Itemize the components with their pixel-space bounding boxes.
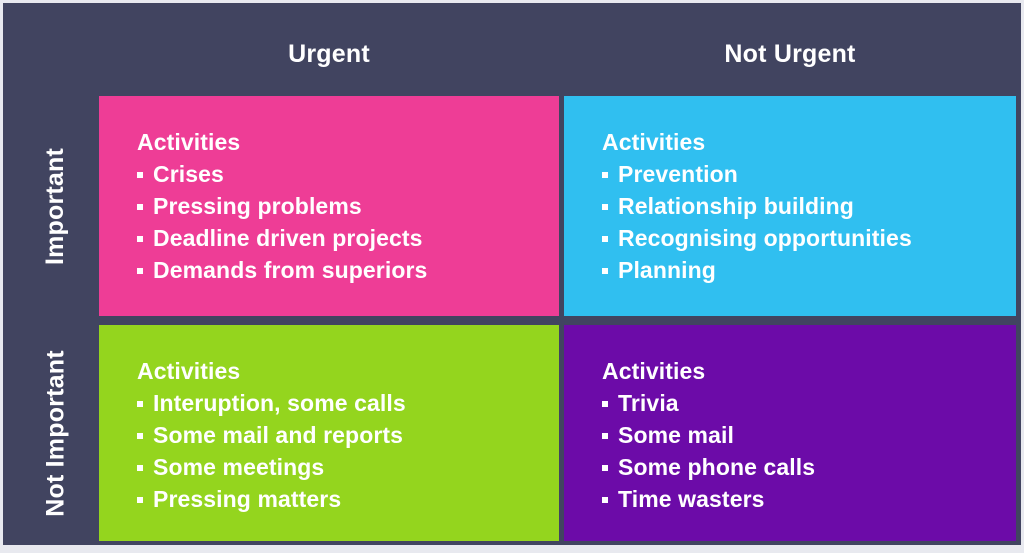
list-item: Time wasters <box>602 483 990 515</box>
list-item: Some mail <box>602 419 990 451</box>
list-item-label: Relationship building <box>618 193 854 219</box>
list-item: Relationship building <box>602 190 990 222</box>
list-item-label: Some meetings <box>153 454 324 480</box>
row-header-important-label: Important <box>42 147 71 264</box>
column-header-urgent: Urgent <box>99 33 559 75</box>
list-item-label: Pressing problems <box>153 193 362 219</box>
row-header-important: Important <box>33 96 79 316</box>
column-header-not-urgent: Not Urgent <box>564 33 1016 75</box>
bullet-square-icon <box>137 401 143 407</box>
list-item-label: Pressing matters <box>153 486 341 512</box>
bullet-square-icon <box>137 172 143 178</box>
quadrant-title: Activities <box>137 355 533 387</box>
bullet-square-icon <box>602 268 608 274</box>
list-item: Demands from superiors <box>137 254 533 286</box>
list-item-label: Prevention <box>618 161 738 187</box>
list-item: Trivia <box>602 387 990 419</box>
row-header-not-important: Not Important <box>33 325 79 541</box>
bullet-square-icon <box>602 401 608 407</box>
quadrant-not-important-not-urgent: Activities Trivia Some mail Some phone c… <box>564 325 1016 541</box>
list-item-label: Interuption, some calls <box>153 390 406 416</box>
quadrant-title: Activities <box>602 126 990 158</box>
list-item-label: Some phone calls <box>618 454 815 480</box>
bullet-square-icon <box>137 268 143 274</box>
quadrant-title: Activities <box>137 126 533 158</box>
bullet-square-icon <box>137 497 143 503</box>
list-item: Some meetings <box>137 451 533 483</box>
list-item-label: Deadline driven projects <box>153 225 423 251</box>
bullet-square-icon <box>137 236 143 242</box>
list-item-label: Some mail <box>618 422 734 448</box>
list-item: Pressing matters <box>137 483 533 515</box>
quadrant-not-important-urgent: Activities Interuption, some calls Some … <box>99 325 559 541</box>
list-item: Prevention <box>602 158 990 190</box>
quadrant-important-not-urgent: Activities Prevention Relationship build… <box>564 96 1016 316</box>
activity-list: Trivia Some mail Some phone calls Time w… <box>602 387 990 515</box>
list-item: Crises <box>137 158 533 190</box>
list-item: Some mail and reports <box>137 419 533 451</box>
bullet-square-icon <box>137 433 143 439</box>
bullet-square-icon <box>602 497 608 503</box>
bullet-square-icon <box>137 204 143 210</box>
activity-list: Prevention Relationship building Recogni… <box>602 158 990 286</box>
list-item: Some phone calls <box>602 451 990 483</box>
eisenhower-matrix: Urgent Not Urgent Important Not Importan… <box>0 0 1024 553</box>
list-item-label: Time wasters <box>618 486 765 512</box>
activity-list: Crises Pressing problems Deadline driven… <box>137 158 533 286</box>
list-item-label: Trivia <box>618 390 679 416</box>
row-header-not-important-label: Not Important <box>42 350 71 516</box>
list-item-label: Some mail and reports <box>153 422 403 448</box>
bullet-square-icon <box>602 236 608 242</box>
bullet-square-icon <box>602 433 608 439</box>
activity-list: Interuption, some calls Some mail and re… <box>137 387 533 515</box>
list-item-label: Recognising opportunities <box>618 225 912 251</box>
quadrant-title: Activities <box>602 355 990 387</box>
bullet-square-icon <box>602 172 608 178</box>
list-item: Deadline driven projects <box>137 222 533 254</box>
bullet-square-icon <box>137 465 143 471</box>
list-item-label: Crises <box>153 161 224 187</box>
list-item-label: Planning <box>618 257 716 283</box>
bullet-square-icon <box>602 204 608 210</box>
list-item: Planning <box>602 254 990 286</box>
quadrant-important-urgent: Activities Crises Pressing problems Dead… <box>99 96 559 316</box>
list-item: Recognising opportunities <box>602 222 990 254</box>
list-item-label: Demands from superiors <box>153 257 427 283</box>
bullet-square-icon <box>602 465 608 471</box>
list-item: Pressing problems <box>137 190 533 222</box>
list-item: Interuption, some calls <box>137 387 533 419</box>
